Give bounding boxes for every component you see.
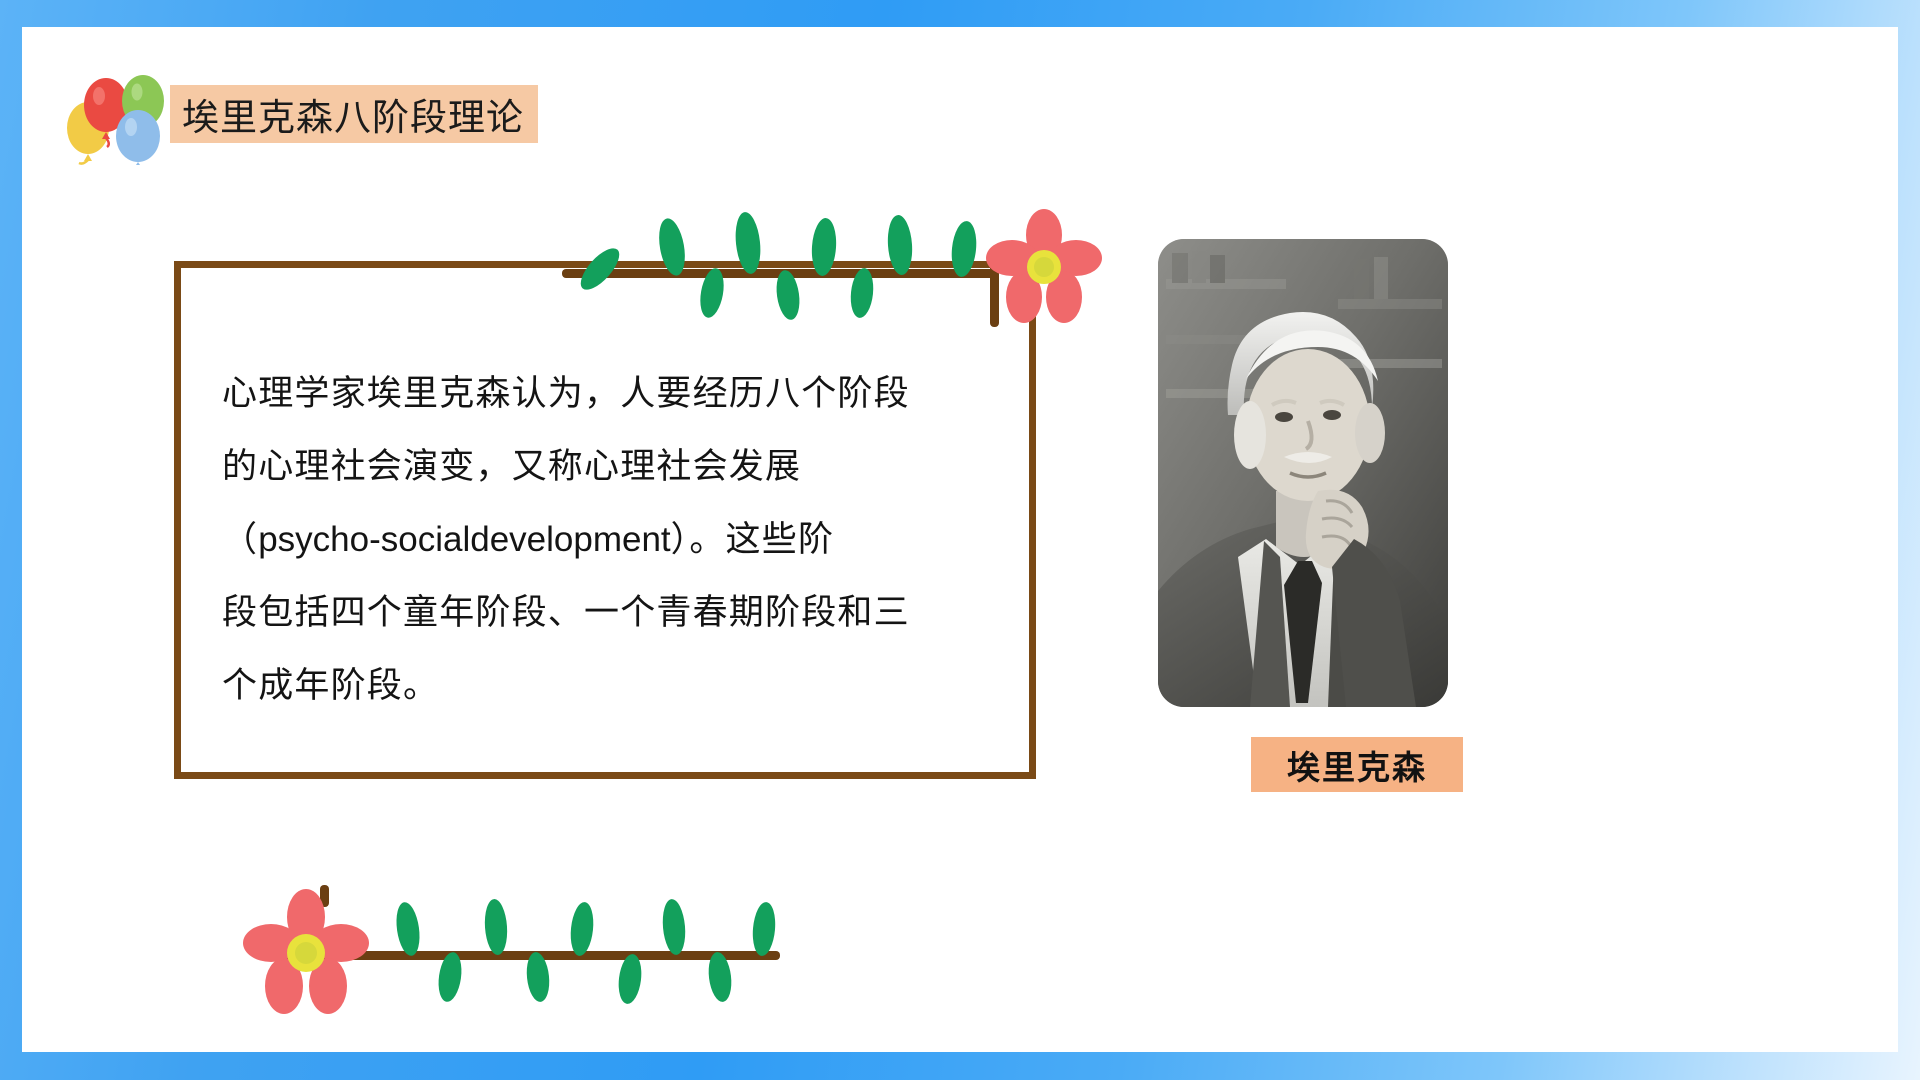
body-line-5: 个成年阶段。 bbox=[222, 666, 439, 705]
body-paragraph: 心理学家埃里克森认为，人要经历八个阶段的心理社会演变，又称心理社会发展（psyc… bbox=[222, 357, 992, 722]
vine-top-decoration bbox=[552, 207, 1112, 332]
body-line-1: 心理学家埃里克森认为，人要经历八个阶段 bbox=[222, 374, 910, 413]
flower-icon bbox=[986, 209, 1102, 323]
portrait-caption-label: 埃里克森 bbox=[1287, 741, 1427, 789]
body-line-3-pre: （ bbox=[222, 520, 258, 559]
body-line-4: 段包括四个童年阶段、一个青春期阶段和三 bbox=[222, 593, 910, 632]
slide: 埃里克森八阶段理论 bbox=[0, 0, 1920, 1080]
body-line-3-post: ）。这些阶 bbox=[671, 520, 835, 559]
vine-bottom-decoration bbox=[130, 885, 810, 1030]
body-line-3-latin: psycho-socialdevelopment bbox=[258, 520, 670, 559]
balloons-icon bbox=[58, 65, 188, 165]
page-title: 埃里克森八阶段理论 bbox=[182, 87, 524, 141]
slide-title-band: 埃里克森八阶段理论 bbox=[170, 85, 538, 143]
portrait-photo bbox=[1158, 239, 1448, 707]
flower-icon bbox=[243, 889, 369, 1014]
slide-content-area: 埃里克森八阶段理论 bbox=[22, 27, 1898, 1052]
body-line-2: 的心理社会演变，又称心理社会发展 bbox=[222, 447, 801, 486]
portrait-caption-band: 埃里克森 bbox=[1251, 737, 1463, 792]
